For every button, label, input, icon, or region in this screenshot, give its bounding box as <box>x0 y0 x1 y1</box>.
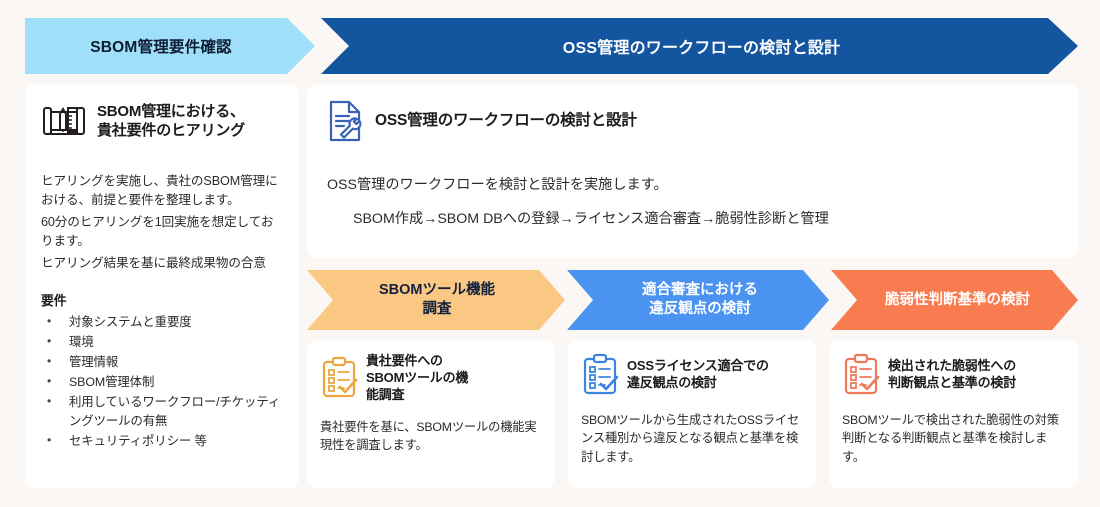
oss-description: OSS管理のワークフローを検討と設計を実施します。 <box>327 175 1058 196</box>
step-chevron-sbom-tool-line2: 調査 <box>423 301 452 317</box>
card-hearing-title-line2: 貴社要件のヒアリング <box>97 121 245 140</box>
list-item: 環境 <box>41 333 283 352</box>
card-vulnerability-criteria-title-line1: 検出された脆弱性への <box>888 358 1016 375</box>
clipboard-checklist-icon <box>320 356 358 400</box>
phase-banner-workflow-label: OSS管理のワークフローの検討と設計 <box>563 34 840 58</box>
list-item: SBOM管理体制 <box>41 373 283 392</box>
card-license-compliance-header: OSSライセンス適合での 違反観点の検討 <box>581 353 803 397</box>
scroll-pencil-ruler-icon <box>41 100 87 142</box>
requirements-list: 対象システムと重要度 環境 管理情報 SBOM管理体制 利用しているワークフロー… <box>41 313 283 450</box>
card-vulnerability-criteria: 検出された脆弱性への 判断観点と基準の検討 SBOMツールで検出された脆弱性の対… <box>829 340 1078 488</box>
phase-banner-requirements-label: SBOM管理要件確認 <box>90 35 232 57</box>
card-license-compliance-body: SBOMツールから生成されたOSSライセンス種別から違反となる観点と基準を検討し… <box>581 411 803 466</box>
card-hearing-para-0: ヒアリングを実施し、貴社のSBOM管理における、前提と要件を整理します。 <box>41 172 283 210</box>
card-vulnerability-criteria-body: SBOMツールで検出された脆弱性の対策判断となる判断観点と基準を検討します。 <box>842 411 1065 466</box>
list-item: セキュリティポリシー 等 <box>41 432 283 451</box>
card-sbom-tool-survey-title-line1: 貴社要件への <box>366 353 468 370</box>
phase-banner-row: SBOM管理要件確認 OSS管理のワークフローの検討と設計 <box>25 18 1078 74</box>
step-chevron-sbom-tool-line1: SBOMツール機能 <box>379 282 495 298</box>
step-chevron-compliance-line2: 違反観点の検討 <box>649 301 751 317</box>
card-sbom-tool-survey-title-line3: 能調査 <box>366 387 468 404</box>
card-sbom-tool-survey-header: 貴社要件への SBOMツールの機 能調査 <box>320 353 542 404</box>
card-sbom-tool-survey: 貴社要件への SBOMツールの機 能調査 貴社要件を基に、SBOMツールの機能実… <box>307 340 555 488</box>
card-vulnerability-criteria-title-line2: 判断観点と基準の検討 <box>888 375 1016 392</box>
card-sbom-tool-survey-body: 貴社要件を基に、SBOMツールの機能実現性を調査します。 <box>320 418 542 455</box>
card-oss-workflow-title: OSS管理のワークフローの検討と設計 <box>375 111 637 131</box>
card-license-compliance-title: OSSライセンス適合での 違反観点の検討 <box>627 358 769 392</box>
list-item: 対象システムと重要度 <box>41 313 283 332</box>
clipboard-checklist-icon <box>842 353 880 397</box>
step-chevron-compliance-line1: 適合審査における <box>642 282 758 298</box>
card-hearing-title: SBOM管理における、 貴社要件のヒアリング <box>97 102 245 140</box>
card-hearing-para-1: 60分のヒアリングを1回実施を想定しております。 <box>41 213 283 251</box>
card-license-compliance-title-line2: 違反観点の検討 <box>627 375 769 392</box>
requirements-heading: 要件 <box>41 290 283 309</box>
card-sbom-tool-survey-title: 貴社要件への SBOMツールの機 能調査 <box>366 353 468 404</box>
oss-flow-sequence: SBOM作成→SBOM DBへの登録→ライセンス適合審査→脆弱性診断と管理 <box>353 209 1058 230</box>
step-chevron-vulnerability: 脆弱性判断基準の検討 <box>831 270 1078 330</box>
step-chevron-compliance: 適合審査における 違反観点の検討 <box>567 270 829 330</box>
document-wrench-icon <box>327 99 365 143</box>
phase-banner-requirements: SBOM管理要件確認 <box>25 18 315 74</box>
card-hearing-header: SBOM管理における、 貴社要件のヒアリング <box>41 100 283 142</box>
card-sbom-tool-survey-title-line2: SBOMツールの機 <box>366 370 468 387</box>
list-item: 利用しているワークフロー/チケッティングツールの有無 <box>41 393 283 431</box>
clipboard-checklist-icon <box>581 353 619 397</box>
card-license-compliance: OSSライセンス適合での 違反観点の検討 SBOMツールから生成されたOSSライ… <box>568 340 816 488</box>
diagram-root: SBOM管理要件確認 OSS管理のワークフローの検討と設計 <box>0 0 1100 507</box>
step-chevron-sbom-tool: SBOMツール機能 調査 <box>307 270 565 330</box>
step-chevron-row: SBOMツール機能 調査 適合審査における 違反観点の検討 脆弱性判断基準の検討 <box>307 270 1078 330</box>
step-chevron-vulnerability-line1: 脆弱性判断基準の検討 <box>885 291 1030 310</box>
phase-banner-workflow: OSS管理のワークフローの検討と設計 <box>321 18 1078 74</box>
card-oss-workflow-header: OSS管理のワークフローの検討と設計 <box>327 99 1058 143</box>
card-hearing-para-2: ヒアリング結果を基に最終成果物の合意 <box>41 254 283 273</box>
card-vulnerability-criteria-header: 検出された脆弱性への 判断観点と基準の検討 <box>842 353 1065 397</box>
card-license-compliance-title-line1: OSSライセンス適合での <box>627 358 769 375</box>
list-item: 管理情報 <box>41 353 283 372</box>
card-oss-workflow: OSS管理のワークフローの検討と設計 OSS管理のワークフローを検討と設計を実施… <box>307 84 1078 258</box>
card-hearing-title-line1: SBOM管理における、 <box>97 102 245 121</box>
card-oss-workflow-body: OSS管理のワークフローを検討と設計を実施します。 SBOM作成→SBOM DB… <box>327 175 1058 231</box>
card-hearing-body: ヒアリングを実施し、貴社のSBOM管理における、前提と要件を整理します。 60分… <box>41 172 283 272</box>
card-vulnerability-criteria-title: 検出された脆弱性への 判断観点と基準の検討 <box>888 358 1016 392</box>
card-hearing: SBOM管理における、 貴社要件のヒアリング ヒアリングを実施し、貴社のSBOM… <box>25 84 299 488</box>
